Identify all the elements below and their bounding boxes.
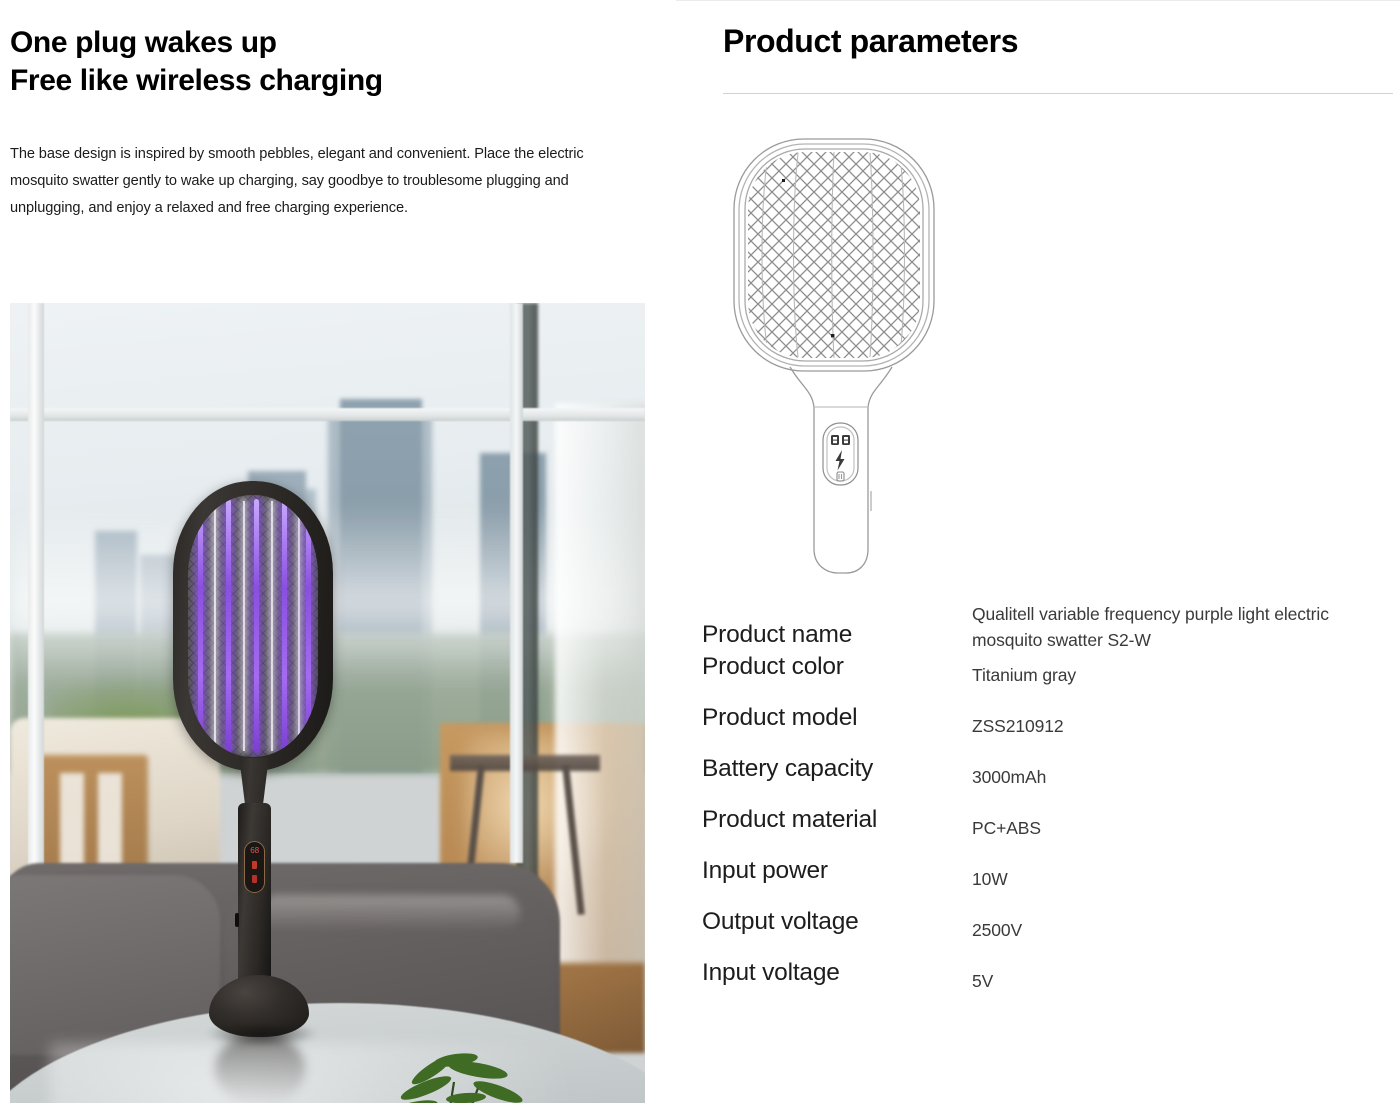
swatter-handle [238, 803, 271, 998]
display-digits-88 [831, 435, 850, 445]
table-row: Battery capacity 3000mAh [676, 755, 1400, 806]
uv-tube [226, 499, 231, 753]
param-value: 2500V [972, 908, 1400, 943]
sheer-curtain [555, 403, 645, 963]
param-value: Qualitell variable frequency purple ligh… [972, 601, 1400, 653]
param-label: Input voltage [676, 959, 972, 987]
product-detail-page: One plug wakes up Free like wireless cha… [0, 0, 1400, 1109]
mesh-marker [782, 179, 785, 182]
potted-plant [370, 1048, 540, 1103]
table-row: Output voltage 2500V [676, 908, 1400, 959]
feature-headline: One plug wakes up Free like wireless cha… [10, 24, 383, 100]
param-label: Product model [676, 704, 972, 732]
param-value: 10W [972, 857, 1400, 892]
battery-icon [837, 472, 844, 481]
uv-tube-white [243, 501, 245, 751]
side-table [450, 755, 600, 771]
cushion-highlight [260, 895, 520, 931]
table-row: Product material PC+ABS [676, 806, 1400, 857]
table-row: Product model ZSS210912 [676, 704, 1400, 755]
table-row: Product name Qualitell variable frequenc… [676, 601, 1400, 653]
uv-tube [306, 499, 311, 753]
param-label: Product color [676, 653, 972, 681]
mesh-marker [831, 334, 834, 337]
product-lifestyle-photo: 68 [10, 303, 645, 1103]
title-divider [723, 93, 1393, 94]
param-label: Product material [676, 806, 972, 834]
lightning-bolt-icon [836, 450, 845, 471]
uv-tube [198, 499, 203, 753]
param-label: Output voltage [676, 908, 972, 936]
handle-side-button [868, 487, 871, 515]
uv-tube-white [271, 501, 273, 751]
page-title: Product parameters [723, 23, 1018, 60]
feature-description: The base design is inspired by smooth pe… [10, 141, 638, 222]
table-row: Input voltage 5V [676, 959, 1400, 1010]
table-row: Product color Titanium gray [676, 653, 1400, 704]
swatter-battery-digits: 68 [247, 846, 262, 855]
window-mullion-vertical [510, 303, 523, 863]
table-row: Input power 10W [676, 857, 1400, 908]
product-line-drawing [716, 129, 1006, 589]
param-label: Battery capacity [676, 755, 972, 783]
swatter-mesh-area [188, 495, 318, 757]
uv-tube [282, 499, 287, 753]
window-mullion-horizontal [10, 408, 645, 421]
param-value: PC+ABS [972, 806, 1400, 841]
feature-panel: One plug wakes up Free like wireless cha… [0, 0, 676, 1109]
swatter-indicator-light [252, 861, 257, 869]
param-label: Product name [676, 601, 972, 649]
uv-tube-white [298, 501, 300, 751]
param-value: 5V [972, 959, 1400, 994]
parameters-table: Product name Qualitell variable frequenc… [676, 601, 1400, 1010]
param-value: 3000mAh [972, 755, 1400, 790]
uv-tube [254, 499, 259, 753]
swatter-power-button [235, 913, 239, 927]
swatter-indicator-light [252, 875, 257, 883]
uv-tube-white [214, 501, 216, 751]
param-value: ZSS210912 [972, 704, 1400, 739]
param-label: Input power [676, 857, 972, 885]
param-value: Titanium gray [972, 653, 1400, 688]
base-shadow [206, 1025, 318, 1047]
product-parameters-panel: Product parameters [676, 0, 1400, 1109]
